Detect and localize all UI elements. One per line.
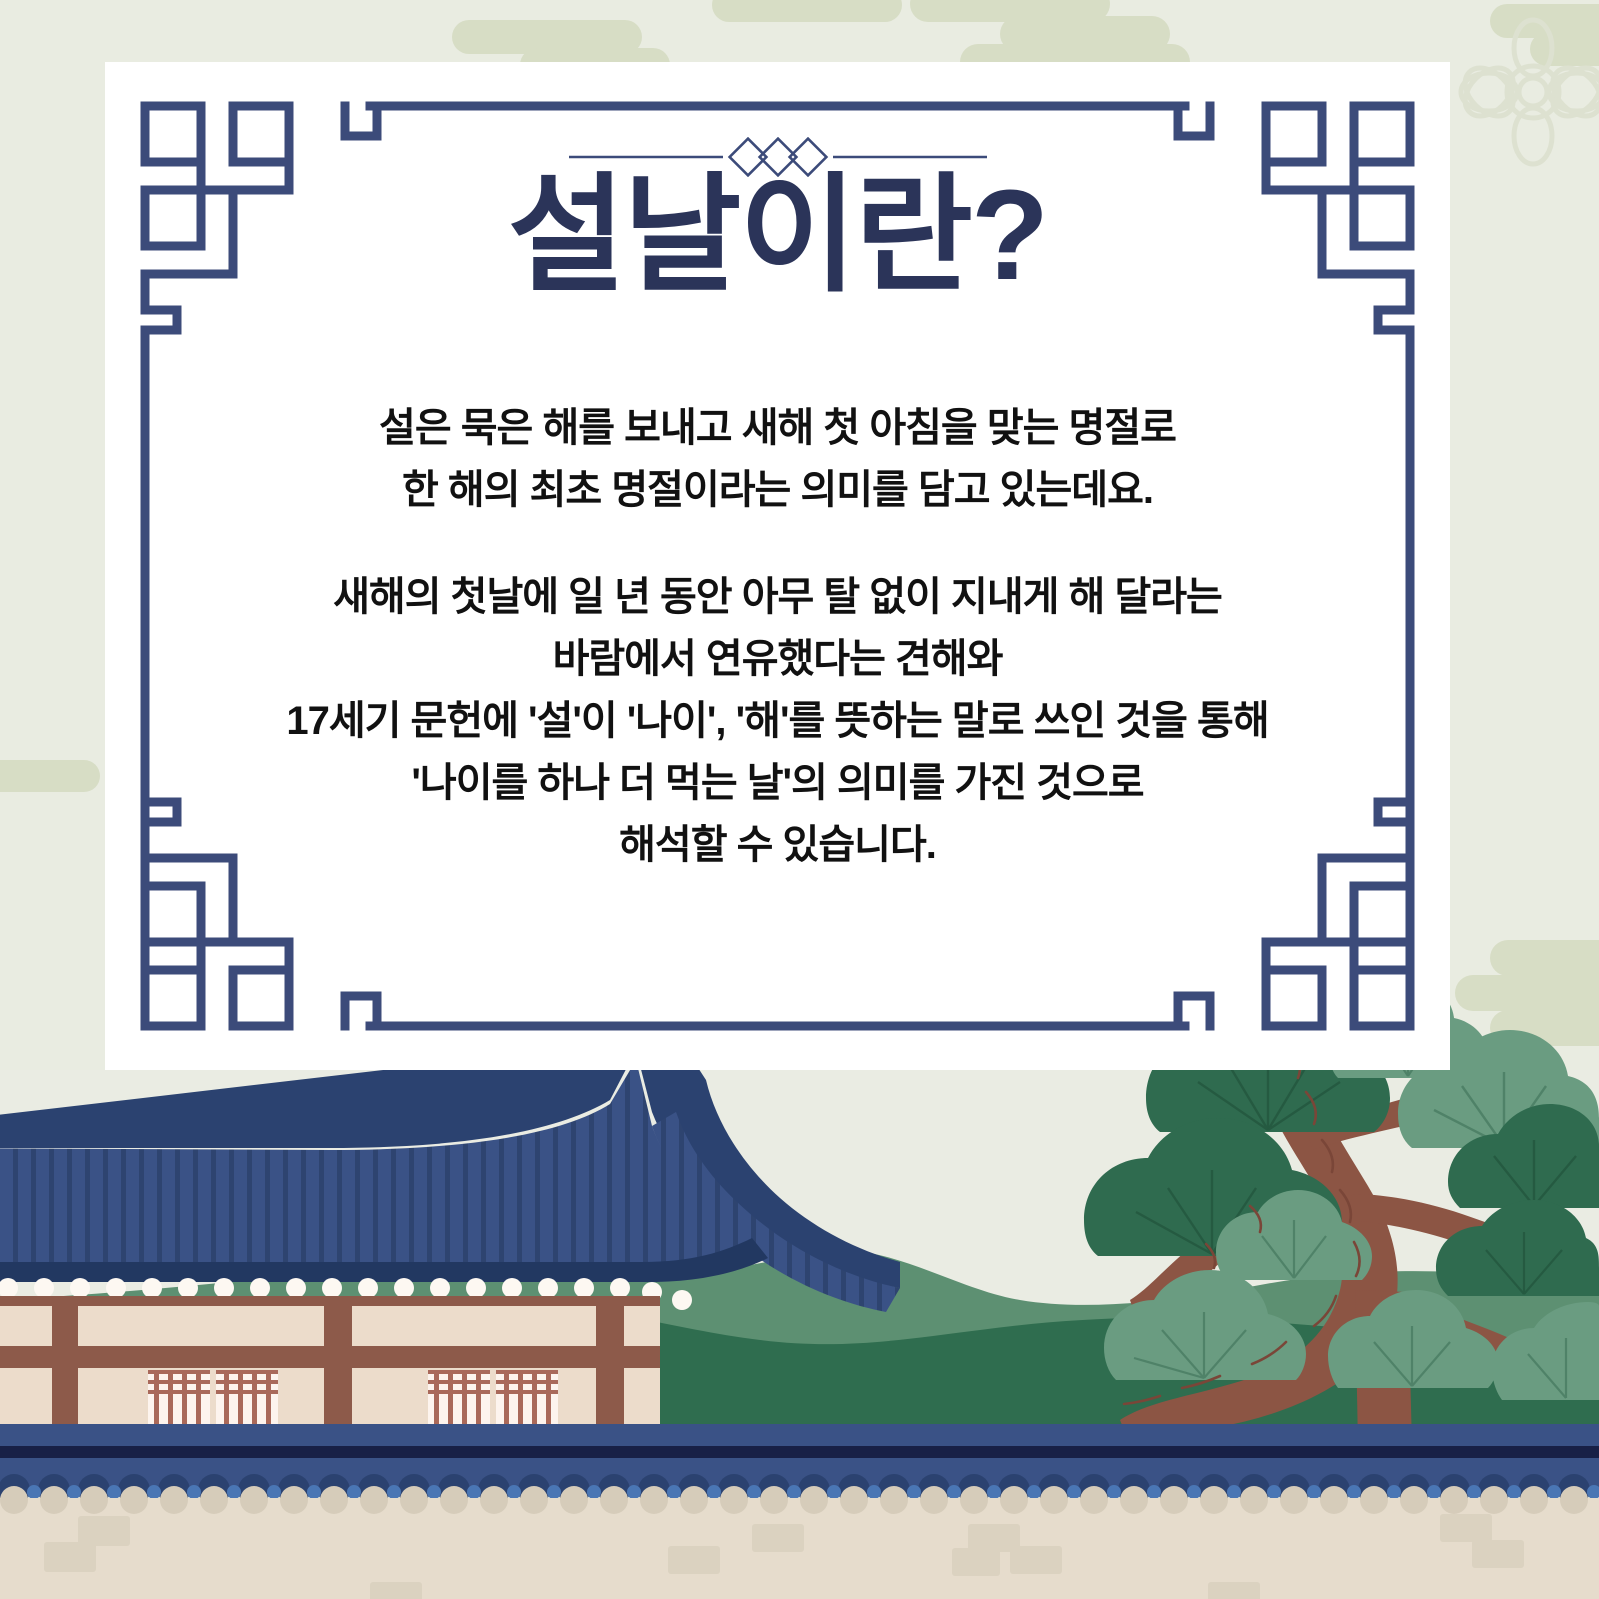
page-title: 설날이란? bbox=[105, 172, 1450, 300]
paragraph-1: 설은 묵은 해를 보내고 새해 첫 아침을 맞는 명절로 한 해의 최초 명절이… bbox=[105, 397, 1450, 521]
body-text: 설은 묵은 해를 보내고 새해 첫 아침을 맞는 명절로 한 해의 최초 명절이… bbox=[105, 397, 1450, 876]
body-line: '나이를 하나 더 먹는 날'의 의미를 가진 것으로 bbox=[105, 752, 1450, 814]
tiled-wall bbox=[0, 1424, 1599, 1599]
body-line: 17세기 문헌에 '설'이 '나이', '해'를 뜻하는 말로 쓰인 것을 통해 bbox=[105, 690, 1450, 752]
body-line: 설은 묵은 해를 보내고 새해 첫 아침을 맞는 명절로 bbox=[105, 397, 1450, 459]
paragraph-2: 새해의 첫날에 일 년 동안 아무 탈 없이 지내게 해 달라는 바람에서 연유… bbox=[105, 566, 1450, 876]
body-line: 바람에서 연유했다는 견해와 bbox=[105, 628, 1450, 690]
info-card: 설날이란? 설은 묵은 해를 보내고 새해 첫 아침을 맞는 명절로 한 해의 … bbox=[105, 62, 1450, 1070]
body-line: 새해의 첫날에 일 년 동안 아무 탈 없이 지내게 해 달라는 bbox=[105, 566, 1450, 628]
body-line: 한 해의 최초 명절이라는 의미를 담고 있는데요. bbox=[105, 459, 1450, 521]
body-line: 해석할 수 있습니다. bbox=[105, 814, 1450, 876]
paragraph-gap bbox=[105, 521, 1450, 566]
